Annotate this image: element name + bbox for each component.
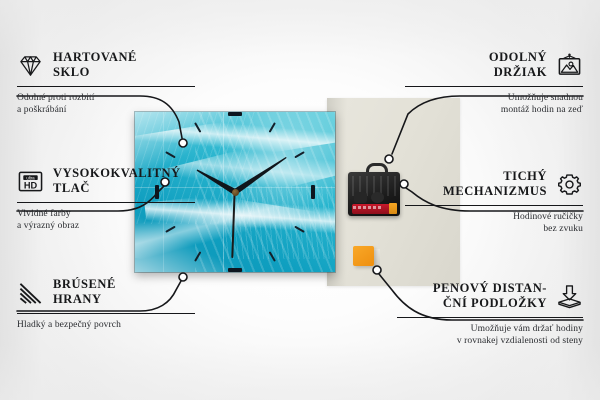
feature-foam-spacers: PENOVÝ DISTAN- ČNÍ PODLOŽKY Umožňuje vám… bbox=[397, 281, 583, 348]
feature-desc-line1: Umožňuje vám držať hodiny bbox=[397, 323, 583, 335]
feature-desc-line1: Hladký a bezpečný povrch bbox=[17, 319, 195, 331]
feature-title-line1: PENOVÝ DISTAN- bbox=[433, 281, 547, 296]
feature-title: TICHÝ MECHANIZMUS bbox=[443, 169, 547, 199]
clock-center-cap bbox=[232, 189, 239, 196]
feature-description: Hladký a bezpečný povrch bbox=[17, 319, 195, 331]
mechanism-detail-square bbox=[354, 192, 367, 203]
foam-spacer-pad bbox=[353, 246, 374, 266]
feature-divider bbox=[397, 317, 583, 318]
mechanism-detail-round bbox=[371, 192, 384, 203]
feature-durable-hanger: ODOLNÝ DRŽIAK Umožňuje snadnou montáž ho… bbox=[405, 50, 583, 117]
feature-description: Umožňuje snadnou montáž hodin na zeď bbox=[405, 92, 583, 117]
battery-label bbox=[353, 206, 383, 209]
feature-head: PENOVÝ DISTAN- ČNÍ PODLOŽKY bbox=[397, 281, 583, 311]
feature-title-line2: DRŽIAK bbox=[489, 65, 547, 80]
feature-description: Odolné proti rozbití a poškrábání bbox=[17, 92, 195, 117]
feature-desc-line1: Hodinové ručičky bbox=[405, 211, 583, 223]
feature-title-line1: TICHÝ bbox=[443, 169, 547, 184]
feature-divider bbox=[17, 86, 195, 87]
feature-divider bbox=[405, 205, 583, 206]
feature-title-line2: HRANY bbox=[53, 292, 116, 307]
feature-silent-mechanism: TICHÝ MECHANIZMUS Hodinové ručičky bez z… bbox=[405, 169, 583, 236]
feature-divider bbox=[405, 86, 583, 87]
foam-pad-side bbox=[374, 249, 380, 267]
feature-divider bbox=[17, 313, 195, 314]
feature-title-line1: VYSOKOKVALITNÝ bbox=[53, 166, 181, 181]
diamond-icon bbox=[17, 53, 44, 78]
feature-title-line2: SKLO bbox=[53, 65, 137, 80]
feature-head: HARTOVANÉ SKLO bbox=[17, 50, 195, 80]
feature-desc-line2: v rovnakej vzdialenosti od steny bbox=[397, 335, 583, 347]
feature-desc-line1: Odolné proti rozbití bbox=[17, 92, 195, 104]
picture-frame-hanger-icon bbox=[556, 53, 583, 78]
feature-desc-line2: bez zvuku bbox=[405, 223, 583, 235]
feature-title: HARTOVANÉ SKLO bbox=[53, 50, 137, 80]
product-infographic: HARTOVANÉ SKLO Odolné proti rozbití a po… bbox=[0, 0, 600, 400]
beveled-edge-icon bbox=[17, 280, 44, 305]
feature-desc-line2: montáž hodin na zeď bbox=[405, 104, 583, 116]
feature-head: ultra HD VYSOKOKVALITNÝ TLAČ bbox=[17, 166, 195, 196]
feature-description: Hodinové ručičky bez zvuku bbox=[405, 211, 583, 236]
mechanism-body bbox=[348, 172, 400, 216]
feature-title: PENOVÝ DISTAN- ČNÍ PODLOŽKY bbox=[433, 281, 547, 311]
feature-title-line2: MECHANIZMUS bbox=[443, 184, 547, 199]
clock-tick-12 bbox=[234, 112, 236, 192]
feature-tempered-glass: HARTOVANÉ SKLO Odolné proti rozbití a po… bbox=[17, 50, 195, 117]
foam-pad-arrow-icon bbox=[556, 284, 583, 309]
feature-ground-edges: BRÚSENÉ HRANY Hladký a bezpečný povrch bbox=[17, 277, 195, 331]
feature-description: Umožňuje vám držať hodiny v rovnakej vzd… bbox=[397, 323, 583, 348]
feature-description: Vividné farby a výrazný obraz bbox=[17, 208, 195, 233]
feature-divider bbox=[17, 202, 195, 203]
feature-title: BRÚSENÉ HRANY bbox=[53, 277, 116, 307]
feature-title-line1: BRÚSENÉ bbox=[53, 277, 116, 292]
battery-positive-terminal bbox=[389, 203, 397, 214]
feature-desc-line1: Umožňuje snadnou bbox=[405, 92, 583, 104]
feature-title-line2: ČNÍ PODLOŽKY bbox=[433, 296, 547, 311]
ultra-hd-icon: ultra HD bbox=[17, 169, 44, 194]
feature-high-quality-print: ultra HD VYSOKOKVALITNÝ TLAČ Vividné far… bbox=[17, 166, 195, 233]
feature-desc-line2: a výrazný obraz bbox=[17, 220, 195, 232]
feature-title: VYSOKOKVALITNÝ TLAČ bbox=[53, 166, 181, 196]
feature-desc-line1: Vividné farby bbox=[17, 208, 195, 220]
feature-title-line1: HARTOVANÉ bbox=[53, 50, 137, 65]
feature-head: ODOLNÝ DRŽIAK bbox=[405, 50, 583, 80]
gear-icon bbox=[556, 172, 583, 197]
clock-tick-3 bbox=[235, 191, 315, 193]
feature-title-line2: TLAČ bbox=[53, 181, 181, 196]
feature-desc-line2: a poškrábání bbox=[17, 104, 195, 116]
feature-title: ODOLNÝ DRŽIAK bbox=[489, 50, 547, 80]
feature-head: BRÚSENÉ HRANY bbox=[17, 277, 195, 307]
ultra-hd-icon-large-text: HD bbox=[24, 180, 38, 190]
feature-title-line1: ODOLNÝ bbox=[489, 50, 547, 65]
feature-head: TICHÝ MECHANIZMUS bbox=[405, 169, 583, 199]
clock-mechanism bbox=[348, 168, 400, 216]
